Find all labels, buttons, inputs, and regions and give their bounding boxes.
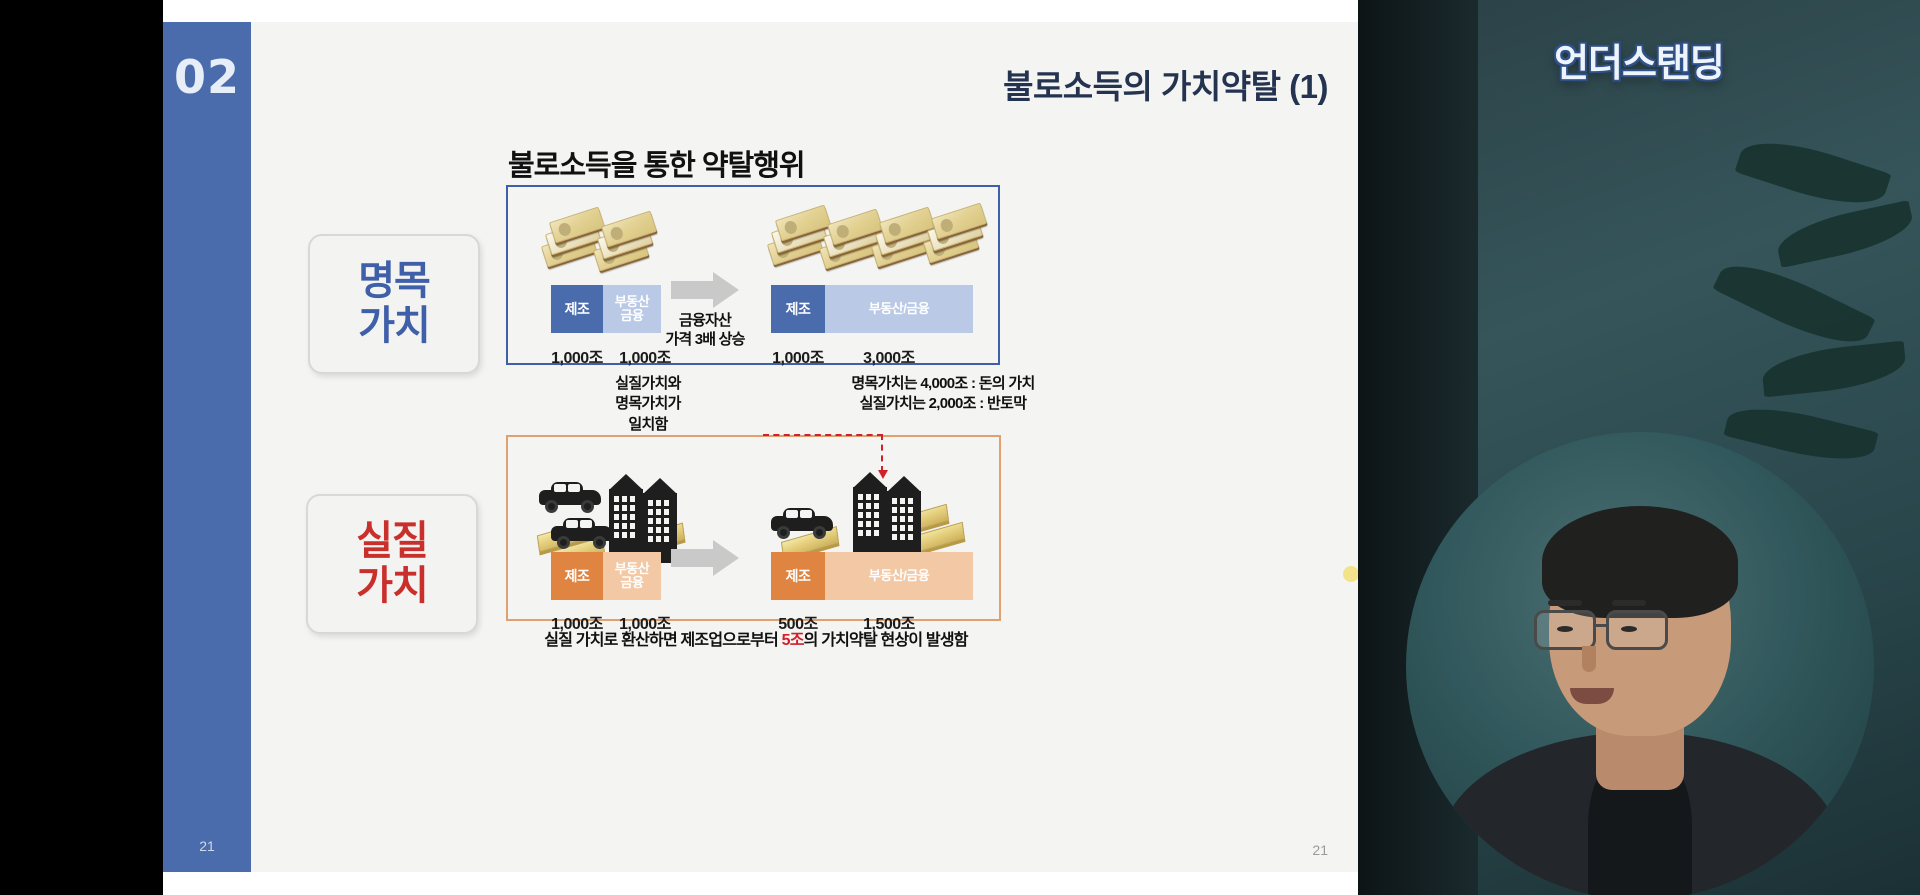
slide-section-band: 02 21 [163, 22, 251, 872]
real-before-bar: 제조 부동산 금융 [551, 552, 661, 600]
real-after-bar: 제조 부동산/금융 [771, 552, 973, 600]
annotation-footer-suffix: 의 가치약탈 현상이 발생함 [804, 632, 968, 649]
slide-container: 02 21 불로소득의 가치약탈 (1) 불로소득을 통한 약탈행위 21 명목… [163, 0, 1358, 895]
bar-segment-manufacturing-real: 제조 [551, 552, 603, 600]
bar-segment-label-line1: 부동산 [615, 295, 649, 309]
annotation-left-line3: 일치함 [558, 415, 738, 435]
transform-arrow-icon-real [671, 540, 739, 576]
label-real-line2: 가치 [356, 564, 428, 609]
presentation-slide: 02 21 불로소득의 가치약탈 (1) 불로소득을 통한 약탈행위 21 명목… [163, 22, 1358, 872]
bar-segment-label-line1: 부동산 [615, 562, 649, 576]
annotation-footer-prefix: 실질 가치로 환산하면 제조업으로부터 [544, 632, 781, 649]
annotation-footer-highlight: 5조 [782, 632, 804, 649]
nominal-before-bar: 제조 부동산 금융 [551, 285, 661, 333]
car-icon [539, 482, 601, 512]
annotation-right-line1: 명목가치는 4,000조 : 돈의 가치 [733, 374, 1153, 394]
video-overlay: 언더스탠딩 [1358, 0, 1920, 895]
annotation-footer: 실질 가치로 환산하면 제조업으로부터 5조의 가치약탈 현상이 발생함 [506, 630, 1006, 652]
channel-logo: 언더스탠딩 [1554, 32, 1724, 87]
slide-subtitle: 불로소득을 통한 약탈행위 [508, 142, 805, 184]
letterbox-left [0, 0, 163, 895]
annotation-right-line2: 실질가치는 2,000조 : 반토막 [733, 394, 1153, 414]
arrow-label-line2: 가격 3배 상승 [655, 331, 755, 350]
bar-segment-realestate-finance: 부동산 금융 [603, 285, 661, 333]
bar-segment-manufacturing: 제조 [551, 285, 603, 333]
value-transfer-callout [763, 434, 883, 472]
annotation-left-line2: 명목가치가 [558, 394, 738, 414]
bar-segment-realestate-finance-after: 부동산/금융 [825, 285, 973, 333]
screen: 02 21 불로소득의 가치약탈 (1) 불로소득을 통한 약탈행위 21 명목… [0, 0, 1920, 895]
section-number: 02 [174, 50, 240, 104]
bar-segment-label-line2: 금융 [621, 309, 644, 323]
bar-segment-realestate-finance-real-after: 부동산/금융 [825, 552, 973, 600]
annotation-left-line1: 실질가치와 [558, 374, 738, 394]
label-nominal-value: 명목 가치 [308, 234, 480, 374]
page-number-left: 21 [163, 838, 251, 854]
car-icon [551, 518, 613, 548]
bar-segment-manufacturing-real-after: 제조 [771, 552, 825, 600]
arrow-label-line1: 금융자산 [655, 312, 755, 331]
label-nominal-line1: 명목 [358, 259, 430, 304]
value-transfer-arrowhead-icon [878, 470, 888, 479]
label-real-line1: 실질 [356, 519, 428, 564]
bar-segment-label-line2: 금융 [621, 576, 644, 590]
arrow-label-nominal: 금융자산 가격 3배 상승 [655, 312, 755, 350]
annotation-left: 실질가치와 명목가치가 일치함 [558, 374, 738, 435]
bar-segment-manufacturing-after: 제조 [771, 285, 825, 333]
label-nominal-line2: 가치 [358, 304, 430, 349]
annotation-right: 명목가치는 4,000조 : 돈의 가치 실질가치는 2,000조 : 반토막 [733, 374, 1153, 415]
speaker-video-bubble [1406, 432, 1874, 895]
label-real-value: 실질 가치 [306, 494, 478, 634]
page-number-right: 21 [1312, 842, 1328, 858]
slide-title: 불로소득의 가치약탈 (1) [1003, 60, 1328, 108]
nominal-after-bar: 제조 부동산/금융 [771, 285, 973, 333]
nominal-after-value-2: 3,000조 [799, 344, 979, 368]
bar-segment-realestate-finance-real: 부동산 금융 [603, 552, 661, 600]
transform-arrow-icon [671, 272, 739, 308]
progress-dot-marker [1343, 566, 1359, 582]
car-icon [771, 508, 833, 538]
